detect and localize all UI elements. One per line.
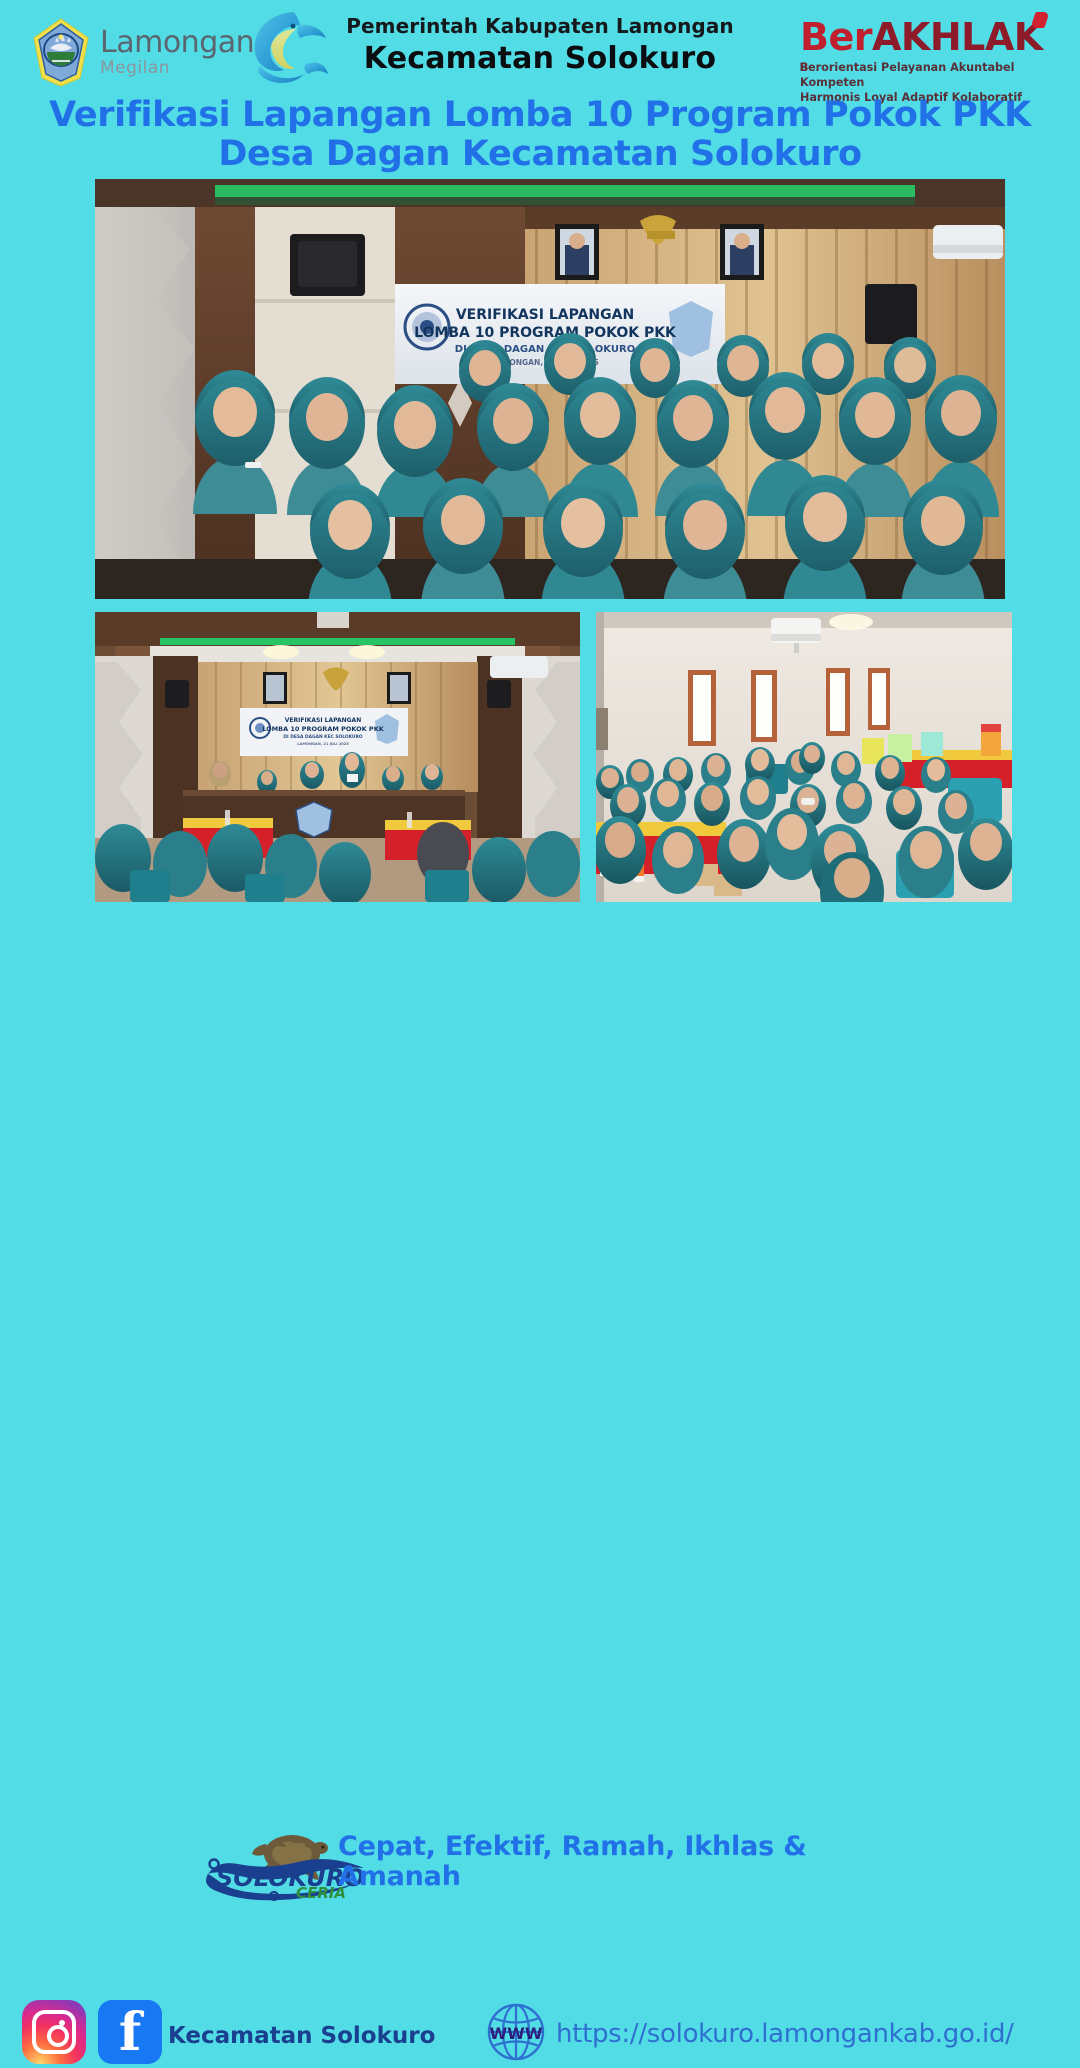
poster-header: Lamongan Megilan — [0, 0, 1080, 96]
svg-text:LOMBA 10 PROGRAM POKOK PKK: LOMBA 10 PROGRAM POKOK PKK — [262, 725, 385, 733]
poster-title-line1: Verifikasi Lapangan Lomba 10 Program Pok… — [0, 96, 1080, 135]
bottom-right-photo-scene — [596, 612, 1012, 902]
poster-canvas: Lamongan Megilan — [0, 0, 1080, 1080]
tagline-text: Cepat, Efektif, Ramah, Ikhlas & Amanah — [338, 1832, 858, 1891]
svg-text:VERIFIKASI LAPANGAN: VERIFIKASI LAPANGAN — [285, 717, 361, 724]
instagram-icon[interactable] — [22, 2000, 86, 2064]
tagline-row: SOLOKURO CERIA Cepat, Efektif, Ramah, Ik… — [0, 912, 1080, 992]
www-label: WWW — [490, 2024, 543, 2043]
poster-title-line2: Desa Dagan Kecamatan Solokuro — [0, 135, 1080, 174]
main-photo: VERIFIKASI LAPANGAN LOMBA 10 PROGRAM POK… — [95, 179, 1005, 599]
bottom-bar: f Kecamatan Solokuro WWW https://solokur… — [0, 995, 1080, 1080]
berakhlak-logo: BerAKHLAK BBerorientasi Pelayanan Akunta… — [800, 18, 1050, 105]
berakhlak-word-ber: Ber — [800, 15, 872, 59]
facebook-glyph: f — [98, 2000, 162, 2064]
government-line: Pemerintah Kabupaten Lamongan — [300, 14, 780, 38]
svg-text:VERIFIKASI LAPANGAN: VERIFIKASI LAPANGAN — [456, 307, 634, 323]
header-title-block: Pemerintah Kabupaten Lamongan Kecamatan … — [300, 14, 780, 76]
berakhlak-wordmark: BerAKHLAK — [800, 18, 1043, 56]
instagram-glyph — [32, 2010, 76, 2054]
svg-text:LAMONGAN, 21 JULI 2025: LAMONGAN, 21 JULI 2025 — [297, 742, 349, 746]
main-photo-scene: VERIFIKASI LAPANGAN LOMBA 10 PROGRAM POK… — [95, 179, 1005, 599]
berakhlak-word-akhlak: AKHLAK — [872, 15, 1043, 59]
social-handle: Kecamatan Solokuro — [168, 2023, 435, 2049]
bottom-left-photo: VERIFIKASI LAPANGAN LOMBA 10 PROGRAM POK… — [95, 612, 580, 902]
svg-text:LOMBA 10 PROGRAM POKOK PKK: LOMBA 10 PROGRAM POKOK PKK — [414, 325, 677, 341]
bottom-left-photo-scene: VERIFIKASI LAPANGAN LOMBA 10 PROGRAM POK… — [95, 612, 580, 902]
berakhlak-subtitle-line1: Berorientasi Pelayanan Akuntabel Kompete… — [800, 61, 1015, 89]
www-globe-icon: WWW — [485, 2001, 547, 2063]
website-url[interactable]: https://solokuro.lamongankab.go.id/ — [556, 2019, 1014, 2049]
lamongan-wordmark: Lamongan Megilan — [100, 28, 254, 77]
lamongan-wordmark-line2: Megilan — [100, 60, 254, 77]
facebook-icon[interactable]: f — [98, 2000, 162, 2064]
svg-text:DI DESA DAGAN KEC SOLOKURO: DI DESA DAGAN KEC SOLOKURO — [283, 734, 362, 740]
lamongan-regency-crest-icon — [30, 16, 92, 88]
district-name: Kecamatan Solokuro — [300, 41, 780, 76]
lamongan-wordmark-line1: Lamongan — [100, 28, 254, 58]
instagram-dot — [59, 2020, 65, 2026]
bottom-right-photo — [596, 612, 1012, 902]
poster-title: Verifikasi Lapangan Lomba 10 Program Pok… — [0, 96, 1080, 174]
